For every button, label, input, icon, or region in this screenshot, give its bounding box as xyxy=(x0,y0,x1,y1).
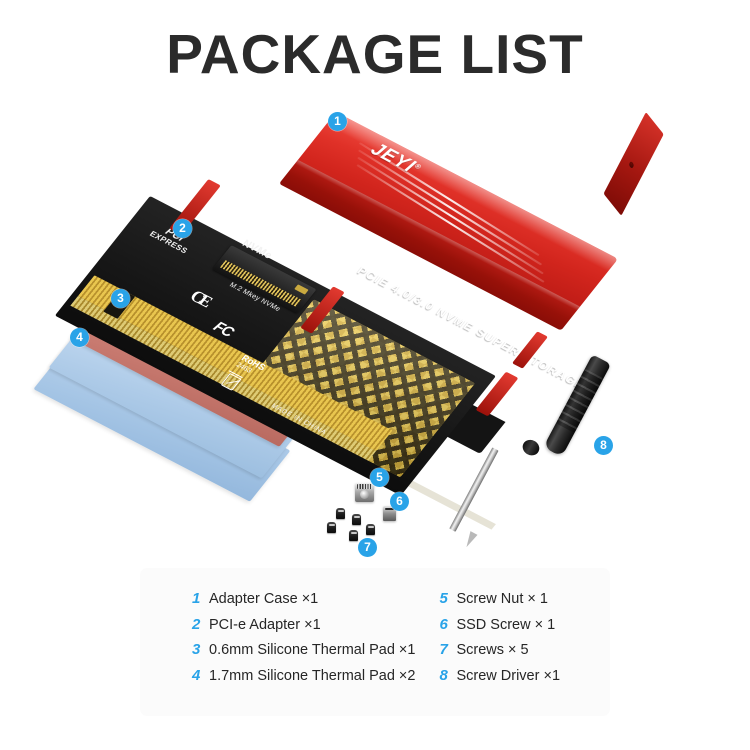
screwdriver-tip xyxy=(463,531,478,549)
legend-item-number: 3 xyxy=(192,641,209,658)
legend-item-number: 4 xyxy=(192,667,209,684)
screw-small xyxy=(352,514,361,525)
legend-item-number: 8 xyxy=(439,667,456,684)
callout-badge-3: 3 xyxy=(111,289,130,308)
page-title: PACKAGE LIST xyxy=(0,22,750,86)
legend-item-4: 41.7mm Silicone Thermal Pad ×2 xyxy=(192,667,415,684)
screwdriver-shaft xyxy=(449,447,498,532)
legend-item-number: 7 xyxy=(439,641,456,658)
legend-item-number: 2 xyxy=(192,616,209,633)
legend-item-label: Adapter Case ×1 xyxy=(209,591,318,607)
callout-badge-4: 4 xyxy=(70,328,89,347)
screwdriver-collar xyxy=(520,437,542,458)
case-screw-hole xyxy=(629,161,635,170)
screw-nut xyxy=(355,483,374,502)
legend-item-6: 6SSD Screw × 1 xyxy=(439,616,610,633)
legend-item-label: 1.7mm Silicone Thermal Pad ×2 xyxy=(209,668,415,684)
screw-small xyxy=(349,530,358,541)
callout-badge-1: 1 xyxy=(328,112,347,131)
legend-item-label: 0.6mm Silicone Thermal Pad ×1 xyxy=(209,642,415,658)
callout-badge-7: 7 xyxy=(358,538,377,557)
callout-badge-8: 8 xyxy=(594,436,613,455)
legend-item-number: 6 xyxy=(439,616,456,633)
legend-item-label: Screw Nut × 1 xyxy=(456,591,547,607)
package-list-panel: 1Adapter Case ×12PCI-e Adapter ×130.6mm … xyxy=(140,568,610,716)
legend-column-right: 5Screw Nut × 16SSD Screw × 17Screws × 58… xyxy=(415,590,610,692)
screw-small xyxy=(336,508,345,519)
adapter-case-illustration: JEYI® PCIE 4.0/3.0 NVME SUPER STORAGE nv… xyxy=(336,112,666,362)
legend-column-left: 1Adapter Case ×12PCI-e Adapter ×130.6mm … xyxy=(140,590,415,692)
legend-item-1: 1Adapter Case ×1 xyxy=(192,590,415,607)
product-package-list-image: PACKAGE LIST JEYI® PCIE 4.0/3.0 NVME SUP… xyxy=(0,0,750,750)
ce-mark-icon: CE xyxy=(186,287,214,311)
screw-small xyxy=(327,522,336,533)
callout-badge-2: 2 xyxy=(173,219,192,238)
legend-item-label: SSD Screw × 1 xyxy=(456,617,555,633)
legend-item-3: 30.6mm Silicone Thermal Pad ×1 xyxy=(192,641,415,658)
callout-badge-5: 5 xyxy=(370,468,389,487)
legend-item-5: 5Screw Nut × 1 xyxy=(439,590,610,607)
legend-item-7: 7Screws × 5 xyxy=(439,641,610,658)
screw-small xyxy=(366,524,375,535)
legend-item-2: 2PCI-e Adapter ×1 xyxy=(192,616,415,633)
case-end-cap xyxy=(604,112,664,216)
legend-item-8: 8Screw Driver ×1 xyxy=(439,667,610,684)
legend-item-number: 1 xyxy=(192,590,209,607)
legend-item-number: 5 xyxy=(439,590,456,607)
legend-item-label: PCI-e Adapter ×1 xyxy=(209,617,321,633)
legend-item-label: Screws × 5 xyxy=(456,642,528,658)
callout-badge-6: 6 xyxy=(390,492,409,511)
legend-item-label: Screw Driver ×1 xyxy=(456,668,560,684)
m2-slot-tab xyxy=(294,284,308,294)
